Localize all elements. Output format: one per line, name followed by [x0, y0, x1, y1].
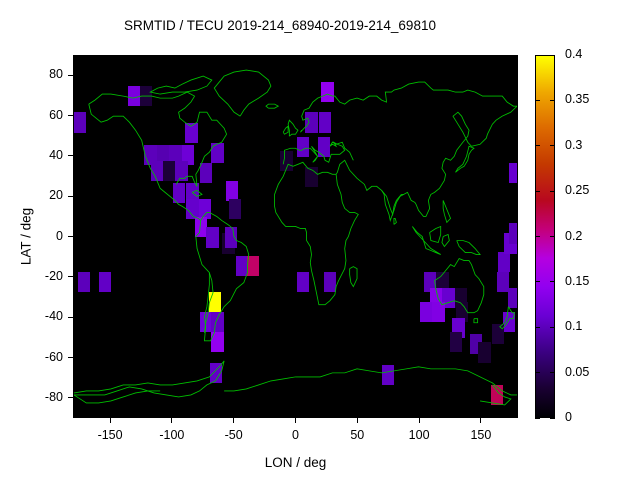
y-tick-mark	[68, 276, 73, 277]
coastline-path	[457, 241, 480, 255]
x-tick-label: 100	[389, 428, 449, 442]
colorbar-tick-mark	[535, 372, 540, 373]
coastline-path	[300, 82, 517, 132]
colorbar-tick-mark	[550, 281, 555, 282]
y-tick-label: -40	[5, 309, 63, 323]
y-tick-label: 20	[5, 188, 63, 202]
colorbar-tick-mark	[535, 191, 540, 192]
colorbar-tick-label: 0.25	[565, 183, 589, 197]
coastline-path	[500, 307, 515, 329]
colorbar-tick-label: 0.4	[565, 47, 582, 61]
x-tick-label: 0	[266, 428, 326, 442]
colorbar-tick-mark	[535, 145, 540, 146]
y-tick-label: 60	[5, 108, 63, 122]
colorbar-tick-mark	[550, 191, 555, 192]
y-tick-mark	[68, 357, 73, 358]
coastline-path	[435, 259, 484, 313]
colorbar-tick-mark	[535, 100, 540, 101]
colorbar-tick-mark	[535, 418, 540, 419]
colorbar-tick-mark	[550, 418, 555, 419]
colorbar-tick-mark	[535, 327, 540, 328]
y-tick-label: -60	[5, 350, 63, 364]
coastline-path	[430, 226, 441, 242]
coastline-path	[443, 200, 450, 222]
coastline-path	[455, 146, 473, 172]
coastline-path	[394, 218, 396, 224]
colorbar-tick-mark	[550, 327, 555, 328]
colorbar-tick-label: 0.1	[565, 319, 582, 333]
map-plot-area[interactable]	[73, 55, 518, 418]
coastline-path	[150, 76, 212, 94]
coastline-path	[442, 234, 449, 246]
colorbar-tick-mark	[550, 55, 555, 56]
coastline-path	[336, 106, 517, 220]
coastline-path	[275, 162, 359, 304]
y-tick-mark	[68, 317, 73, 318]
y-tick-label: -20	[5, 269, 63, 283]
colorbar-tick-mark	[550, 236, 555, 237]
coastline-path	[412, 226, 440, 254]
colorbar-tick-label: 0	[565, 410, 572, 424]
coastline-path	[204, 273, 213, 333]
coastline-path	[350, 267, 357, 287]
x-tick-mark	[295, 418, 296, 423]
x-axis-label: LON / deg	[73, 455, 518, 470]
y-tick-label: 80	[5, 67, 63, 81]
colorbar-tick-mark	[535, 236, 540, 237]
x-tick-label: -100	[142, 428, 202, 442]
x-tick-mark	[419, 418, 420, 423]
coastline-map	[74, 56, 517, 417]
coastline-path	[266, 104, 278, 108]
y-tick-label: -80	[5, 390, 63, 404]
x-tick-label: -50	[204, 428, 264, 442]
coastline-path	[288, 120, 298, 136]
colorbar-tick-mark	[550, 372, 555, 373]
tec-map-figure: SRMTID / TECU 2019-214_68940-2019-214_69…	[0, 0, 640, 480]
x-tick-mark	[357, 418, 358, 423]
colorbar-tick-label: 0.3	[565, 138, 582, 152]
coastline-path	[74, 361, 224, 397]
y-tick-label: 40	[5, 148, 63, 162]
x-tick-mark	[110, 418, 111, 423]
y-tick-mark	[68, 155, 73, 156]
coastline-path	[224, 377, 295, 391]
x-tick-label: 150	[451, 428, 511, 442]
coastline-path	[283, 126, 288, 134]
y-tick-label: 0	[5, 229, 63, 243]
coastline-path	[89, 92, 227, 186]
colorbar-tick-mark	[550, 100, 555, 101]
coastline-path	[74, 391, 160, 403]
coastline-path	[474, 319, 478, 323]
coastline-path	[283, 142, 353, 164]
colorbar-tick-label: 0.2	[565, 229, 582, 243]
colorbar-tick-mark	[535, 55, 540, 56]
y-tick-mark	[68, 236, 73, 237]
colorbar-tick-label: 0.05	[565, 365, 589, 379]
x-tick-mark	[233, 418, 234, 423]
coastline-path	[196, 212, 249, 340]
coastline-path	[296, 367, 518, 395]
y-tick-mark	[68, 196, 73, 197]
x-tick-label: -150	[80, 428, 140, 442]
coastline-path	[480, 385, 511, 405]
x-tick-mark	[171, 418, 172, 423]
coastline-path	[192, 190, 202, 196]
y-tick-mark	[68, 115, 73, 116]
x-tick-mark	[480, 418, 481, 423]
colorbar-tick-label: 0.35	[565, 92, 589, 106]
colorbar-tick-mark	[535, 281, 540, 282]
y-tick-mark	[68, 75, 73, 76]
colorbar-tick-mark	[550, 145, 555, 146]
x-tick-label: 50	[327, 428, 387, 442]
page-title: SRMTID / TECU 2019-214_68940-2019-214_69…	[0, 18, 560, 33]
colorbar-tick-label: 0.15	[565, 274, 589, 288]
coastline-path	[214, 70, 271, 116]
y-tick-mark	[68, 397, 73, 398]
